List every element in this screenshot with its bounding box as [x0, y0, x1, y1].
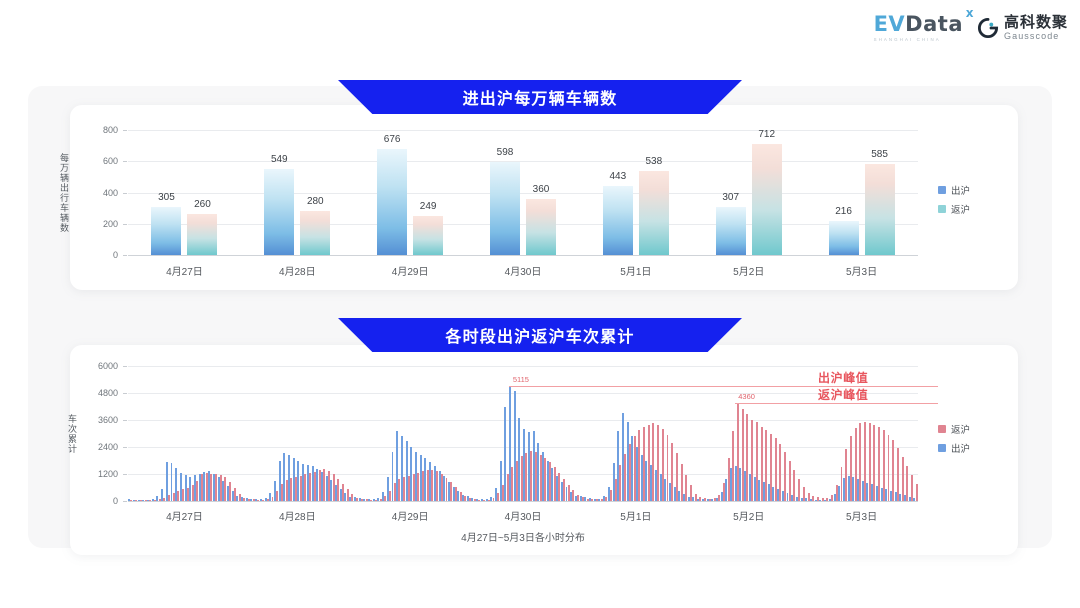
chart-2-legend-item-出沪[interactable]: 出沪: [938, 441, 970, 455]
legend-label-出沪: 出沪: [951, 441, 970, 455]
evdata-x-icon: x: [966, 7, 974, 19]
chart-1-bar-value: 280: [307, 196, 324, 207]
chart-2-x-tick-label: 5月3日: [846, 508, 877, 523]
chart-1-bar-返沪-4月28日: [300, 211, 330, 255]
chart-2-x-tick-label: 4月29日: [392, 508, 429, 523]
chart-1-bar-出沪-4月27日: [151, 207, 181, 255]
chart-1-bar-返沪-5月3日: [865, 164, 895, 255]
gausscode-cn-name: 高科数聚: [1004, 15, 1068, 30]
legend-swatch-出沪: [938, 186, 946, 194]
chart-1-bar-返沪-4月29日: [413, 216, 443, 255]
chart-1-bar-value: 443: [610, 171, 627, 182]
chart-2-gridline: [128, 420, 918, 421]
section-title-banner-2: 各时段出沪返沪车次累计: [338, 318, 742, 352]
chart-1-gridline: [128, 224, 918, 225]
chart-2-bar-back: [916, 484, 918, 501]
chart-2-gridline: [128, 366, 918, 367]
chart-1-x-tick-label: 4月27日: [166, 263, 203, 278]
chart-1-bar-value: 712: [758, 129, 775, 140]
chart-1-y-tick-mark: [123, 255, 127, 256]
chart-2-legend-item-返沪[interactable]: 返沪: [938, 422, 970, 436]
chart-1-bar-value: 260: [194, 199, 211, 210]
chart-1-bar-value: 360: [533, 184, 550, 195]
chart-1-bar-value: 216: [835, 206, 852, 217]
chart-1-bar-value: 598: [497, 147, 514, 158]
evdata-ev-text: EV: [874, 12, 906, 36]
chart-1-bar-value: 538: [646, 156, 663, 167]
chart-2-legend: 返沪出沪: [938, 422, 970, 455]
chart-2-y-tick-mark: [123, 366, 127, 367]
section-title-banner-1: 进出沪每万辆车辆数: [338, 80, 742, 114]
header-logos: EVData x SHANGHAI CHINA 高科数聚 Gausscode: [874, 14, 1068, 42]
chart-1-bar-value: 305: [158, 192, 175, 203]
chart-1-y-tick-mark: [123, 224, 127, 225]
chart-1-bar-出沪-4月29日: [377, 149, 407, 255]
chart-1-gridline: [128, 161, 918, 162]
chart-1-x-tick-label: 4月29日: [392, 263, 429, 278]
bar-chart-hourly-trips: 车次累计0120024003600480060004月27日4月28日4月29日…: [128, 366, 918, 501]
chart-2-y-tick-mark: [123, 447, 127, 448]
gausscode-en-name: Gausscode: [1004, 32, 1068, 41]
chart-2-y-tick-mark: [123, 501, 127, 502]
chart-1-y-tick-label: 400: [86, 188, 118, 198]
chart-2-x-tick-label: 4月27日: [166, 508, 203, 523]
chart-2-annotation-label-返沪峰值: 返沪峰值: [818, 386, 868, 403]
chart-1-bar-value: 249: [420, 201, 437, 212]
chart-1-y-tick-mark: [123, 130, 127, 131]
evdata-data-text: Data: [905, 12, 963, 36]
chart-2-gridline: [128, 393, 918, 394]
legend-label-返沪: 返沪: [951, 422, 970, 436]
chart-1-bar-返沪-5月2日: [752, 144, 782, 255]
chart-1-bar-出沪-5月2日: [716, 207, 746, 255]
chart-1-y-axis-title: 每万辆出行车辆数: [58, 130, 71, 255]
chart-2-y-tick-label: 1200: [86, 469, 118, 479]
section-title-2: 各时段出沪返沪车次累计: [445, 323, 634, 347]
legend-swatch-返沪: [938, 205, 946, 213]
evdata-wordmark: EVData x: [874, 14, 963, 35]
chart-1-y-tick-label: 600: [86, 156, 118, 166]
chart-1-gridline: [128, 130, 918, 131]
chart-1-bar-value: 549: [271, 154, 288, 165]
chart-2-annotation-label-出沪峰值: 出沪峰值: [818, 369, 868, 386]
chart-1-x-tick-label: 5月2日: [733, 263, 764, 278]
chart-2-annotation-line-出沪峰值: [509, 386, 938, 387]
chart-2-annotation-line-返沪峰值: [735, 403, 938, 404]
bar-chart-vehicles-per-10k: 每万辆出行车辆数02004006008003052604月27日5492804月…: [128, 130, 918, 255]
evdata-logo: EVData x SHANGHAI CHINA: [874, 14, 963, 42]
evdata-subtitle: SHANGHAI CHINA: [874, 37, 941, 42]
chart-2-x-tick-label: 4月28日: [279, 508, 316, 523]
chart-1-y-tick-label: 800: [86, 125, 118, 135]
chart-2-x-tick-label: 4月30日: [505, 508, 542, 523]
chart-1-y-tick-label: 0: [86, 250, 118, 260]
chart-1-x-tick-label: 5月1日: [620, 263, 651, 278]
chart-2-y-tick-mark: [123, 420, 127, 421]
chart-1-x-tick-label: 4月28日: [279, 263, 316, 278]
chart-2-annotation-value-返沪峰值: 4360: [738, 392, 755, 401]
chart-2-y-tick-mark: [123, 474, 127, 475]
gausscode-text: 高科数聚 Gausscode: [1004, 15, 1068, 41]
chart-2-y-tick-label: 4800: [86, 388, 118, 398]
chart-1-bar-出沪-5月1日: [603, 186, 633, 255]
chart-1-bar-返沪-4月30日: [526, 199, 556, 255]
chart-2-y-tick-label: 3600: [86, 415, 118, 425]
chart-1-gridline: [128, 193, 918, 194]
chart-1-bar-value: 585: [871, 149, 888, 160]
section-title-1: 进出沪每万辆车辆数: [463, 85, 618, 109]
chart-1-y-tick-label: 200: [86, 219, 118, 229]
chart-2-x-tick-label: 5月2日: [733, 508, 764, 523]
legend-swatch-返沪: [938, 425, 946, 433]
legend-swatch-出沪: [938, 444, 946, 452]
chart-2-x-axis-caption: 4月27日~5月3日各小时分布: [461, 529, 585, 544]
chart-1-bar-返沪-5月1日: [639, 171, 669, 255]
chart-1-x-tick-label: 5月3日: [846, 263, 877, 278]
gausscode-g-icon: [977, 17, 999, 39]
chart-1-y-tick-mark: [123, 161, 127, 162]
chart-1-legend-item-返沪[interactable]: 返沪: [938, 202, 970, 216]
chart-2-y-tick-mark: [123, 393, 127, 394]
chart-1-x-tick-label: 4月30日: [505, 263, 542, 278]
dashboard-page: EVData x SHANGHAI CHINA 高科数聚 Gausscode 进…: [0, 0, 1080, 608]
chart-1-bar-出沪-4月30日: [490, 162, 520, 255]
legend-label-返沪: 返沪: [951, 202, 970, 216]
chart-1-legend: 出沪返沪: [938, 183, 970, 216]
chart-2-annotation-value-出沪峰值: 5115: [513, 375, 529, 384]
chart-2-y-axis-title: 车次累计: [66, 366, 79, 501]
chart-1-bar-value: 307: [722, 192, 739, 203]
chart-1-legend-item-出沪[interactable]: 出沪: [938, 183, 970, 197]
gausscode-logo: 高科数聚 Gausscode: [977, 15, 1068, 41]
chart-2-x-tick-label: 5月1日: [620, 508, 651, 523]
chart-2-y-tick-label: 6000: [86, 361, 118, 371]
chart-2-gridline: [128, 501, 918, 502]
chart-1-bar-出沪-4月28日: [264, 169, 294, 255]
chart-2-y-tick-label: 0: [86, 496, 118, 506]
chart-1-bar-返沪-4月27日: [187, 214, 217, 255]
chart-2-y-tick-label: 2400: [86, 442, 118, 452]
chart-1-bar-value: 676: [384, 134, 401, 145]
chart-1-bar-出沪-5月3日: [829, 221, 859, 255]
legend-label-出沪: 出沪: [951, 183, 970, 197]
chart-1-gridline: [128, 255, 918, 256]
chart-1-y-tick-mark: [123, 193, 127, 194]
